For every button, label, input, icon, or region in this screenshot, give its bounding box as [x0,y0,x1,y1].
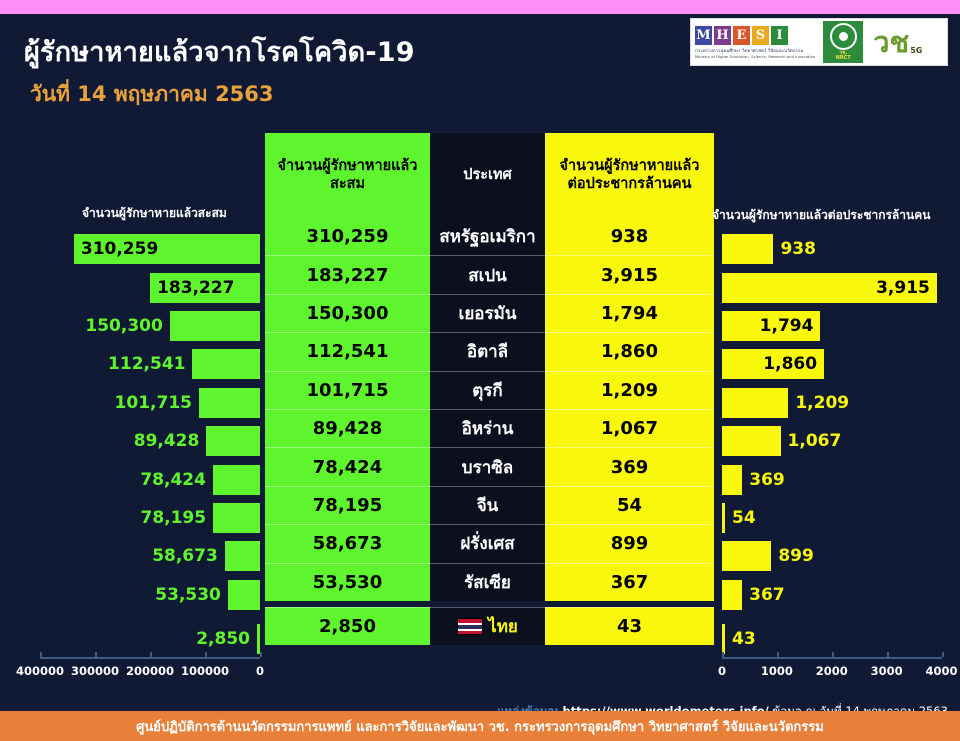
cell-country: ฝรั่งเศส [430,524,545,562]
bar-row: 54 [722,503,958,533]
axis-tick [777,652,779,657]
cell-per-million: 43 [545,607,714,645]
axis-tick [260,652,262,657]
value-recovered-total: 89,428 [313,418,382,439]
value-per-million: 369 [611,457,649,478]
bar-value-label: 112,541 [108,354,192,374]
value-country: จีน [477,492,499,519]
axis-tick [887,652,889,657]
value-recovered-total: 2,850 [319,616,376,637]
cell-country: สหรัฐอเมริกา [430,217,545,255]
value-recovered-total: 58,673 [313,533,382,554]
axis-tick-label: 400000 [16,664,64,678]
cell-country: รัสเซีย [430,563,545,601]
axis-tick-label: 0 [718,664,726,678]
value-country: ฝรั่งเศส [460,530,514,557]
bar [722,465,742,495]
value-recovered-total: 78,424 [313,457,382,478]
bar-row: 58,673 [20,541,260,571]
cell-per-million: 1,067 [545,409,714,447]
bar-row: 938 [722,234,958,264]
value-recovered-total: 183,227 [307,265,389,286]
bar-row: 89,428 [20,426,260,456]
table-row: 78,424บราซิล369 [265,447,714,485]
axis-tick-label: 1000 [761,664,793,678]
nrct-logo: วช. NRCT [823,21,863,63]
bar-row: 78,424 [20,465,260,495]
table-row: 310,259สหรัฐอเมริกา938 [265,217,714,255]
bar: 183,227 [150,273,260,303]
mhesi-letter-e: E [733,26,750,45]
bar: 1,860 [722,349,824,379]
bar [206,426,260,456]
bar [199,388,260,418]
bar-row: 101,715 [20,388,260,418]
cell-per-million: 54 [545,486,714,524]
bar [228,580,260,610]
value-per-million: 1,067 [601,418,658,439]
bar-row: 43 [722,624,958,654]
value-per-million: 43 [617,616,642,637]
bar-value-label: 101,715 [115,393,199,413]
bar-value-label: 183,227 [150,278,234,298]
bar-value-label: 78,195 [140,508,213,528]
cell-recovered-total: 183,227 [265,255,430,293]
axis-tick-label: 100000 [181,664,229,678]
bar-row: 367 [722,580,958,610]
mhesi-thai-name: กระทรวงการอุดมศึกษา วิทยาศาสตร์ วิจัยและ… [695,47,815,54]
value-recovered-total: 150,300 [307,303,389,324]
bar-value-label: 89,428 [134,431,207,451]
nrct-label-abbr: NRCT [836,55,851,61]
bar [722,580,742,610]
mhesi-english-name: Ministry of Higher Education, Science, R… [695,55,815,59]
cell-per-million: 1,209 [545,371,714,409]
cell-per-million: 3,915 [545,255,714,293]
axis-tick [205,652,207,657]
bar-row: 369 [722,465,958,495]
footer-banner: ศูนย์ปฏิบัติการด้านนวัตกรรมการแพทย์ และก… [0,711,960,741]
value-per-million: 899 [611,533,649,554]
table-row: 101,715ตุรกี1,209 [265,371,714,409]
cell-recovered-total: 310,259 [265,217,430,255]
table-header-row: จำนวนผู้รักษาหายแล้วสะสม ประเทศ จำนวนผู้… [265,133,714,217]
value-recovered-total: 310,259 [307,226,389,247]
bar-value-label: 53,530 [155,585,228,605]
mhesi-letter-m: M [695,26,712,45]
bar-value-label: 1,794 [760,316,821,336]
footer-banner-text: ศูนย์ปฏิบัติการด้านนวัตกรรมการแพทย์ และก… [136,716,824,737]
bar-value-label: 78,424 [140,470,213,490]
bar [257,624,260,654]
bar [722,541,771,571]
table-row: 150,300เยอรมัน1,794 [265,294,714,332]
bar-value-label: 369 [742,470,785,490]
value-per-million: 1,794 [601,303,658,324]
bar [722,426,781,456]
axis-recovered-total-line [40,657,260,659]
value-per-million: 1,860 [601,341,658,362]
cell-recovered-total: 89,428 [265,409,430,447]
table-header: จำนวนผู้รักษาหายแล้วสะสม ประเทศ จำนวนผู้… [265,133,714,217]
table-row: 78,195จีน54 [265,486,714,524]
header-cell-country: ประเทศ [430,133,545,217]
axis-tick-label: 200000 [126,664,174,678]
bar-row: 1,794 [722,311,958,341]
value-recovered-total: 112,541 [307,341,389,362]
cell-country: อิตาลี [430,332,545,370]
bar-value-label: 938 [773,239,816,259]
value-country: อิหร่าน [462,415,514,442]
bar-value-label: 367 [742,585,785,605]
value-recovered-total: 78,195 [313,495,382,516]
mhesi-logo: M H E S I กระทรวงการอุดมศึกษา วิทยาศาสตร… [695,26,815,59]
value-country: ตุรกี [472,377,502,404]
bar-value-label: 3,915 [876,278,937,298]
cell-per-million: 1,860 [545,332,714,370]
bar-row: 2,850 [20,624,260,654]
value-country: บราซิล [462,454,513,481]
bar-row: 183,227 [20,273,260,303]
header-cell-recovered-total: จำนวนผู้รักษาหายแล้วสะสม [265,133,430,217]
top-accent-bar [0,0,960,14]
data-table: จำนวนผู้รักษาหายแล้วสะสม ประเทศ จำนวนผู้… [265,133,714,645]
bar-row: 1,860 [722,349,958,379]
cell-country: ตุรกี [430,371,545,409]
header-label-country: ประเทศ [457,166,518,184]
cell-country: เยอรมัน [430,294,545,332]
bar-value-label: 54 [725,508,756,528]
axis-tick [942,652,944,657]
nrct-label: วช. NRCT [836,51,851,62]
cell-recovered-total: 101,715 [265,371,430,409]
bar [213,503,260,533]
cell-per-million: 938 [545,217,714,255]
bar-row: 310,259 [20,234,260,264]
bar-row: 112,541 [20,349,260,379]
bar-value-label: 310,259 [74,239,158,259]
value-country: รัสเซีย [464,569,511,596]
bar: 310,259 [74,234,260,264]
value-per-million: 1,209 [601,380,658,401]
value-recovered-total: 53,530 [313,572,382,593]
cell-country: บราซิล [430,447,545,485]
page-subtitle-date: วันที่ 14 พฤษภาคม 2563 [30,78,274,111]
logo-strip: M H E S I กระทรวงการอุดมศึกษา วิทยาศาสตร… [690,18,948,66]
bar-row: 150,300 [20,311,260,341]
header-label-recovered-total: จำนวนผู้รักษาหายแล้วสะสม [265,157,430,193]
vch-5g-logo: วช 5G [873,28,922,57]
bar-value-label: 1,209 [788,393,849,413]
bar [213,465,260,495]
cell-recovered-total: 78,195 [265,486,430,524]
value-country: สเปน [468,262,507,289]
chart-title-per-million: จำนวนผู้รักษาหายแล้วต่อประชากรล้านคน [712,206,930,225]
table-row: 89,428อิหร่าน1,067 [265,409,714,447]
bar [192,349,260,379]
bar-row: 53,530 [20,580,260,610]
table-row: 2,850ไทย43 [265,607,714,645]
bar-row: 899 [722,541,958,571]
bar-value-label: 150,300 [85,316,169,336]
bar-value-label: 43 [725,629,756,649]
chart-title-recovered-total: จำนวนผู้รักษาหายแล้วสะสม [82,204,227,223]
bar-row: 3,915 [722,273,958,303]
header-label-per-million: จำนวนผู้รักษาหายแล้วต่อประชากรล้านคน [545,157,714,193]
axis-tick-label: 0 [256,664,264,678]
cell-per-million: 1,794 [545,294,714,332]
axis-tick [832,652,834,657]
value-country: อิตาลี [467,338,508,365]
cell-country: จีน [430,486,545,524]
value-country: เยอรมัน [459,300,517,327]
cell-recovered-total: 53,530 [265,563,430,601]
mhesi-letter-s: S [752,26,769,45]
cell-recovered-total: 58,673 [265,524,430,562]
cell-country: อิหร่าน [430,409,545,447]
cell-per-million: 899 [545,524,714,562]
cell-per-million: 369 [545,447,714,485]
table-row: 183,227สเปน3,915 [265,255,714,293]
axis-tick-label: 300000 [71,664,119,678]
axis-tick [150,652,152,657]
vch-5g-label: 5G [910,46,922,55]
cell-recovered-total: 150,300 [265,294,430,332]
bar-value-label: 58,673 [152,546,225,566]
thailand-flag-icon [457,618,483,635]
cell-per-million: 367 [545,563,714,601]
axis-tick [40,652,42,657]
bar-row: 78,195 [20,503,260,533]
axis-tick [95,652,97,657]
table-row: 58,673ฝรั่งเศส899 [265,524,714,562]
table-row: 53,530รัสเซีย367 [265,563,714,601]
bar-value-label: 1,860 [763,354,824,374]
value-per-million: 3,915 [601,265,658,286]
value-per-million: 54 [617,495,642,516]
table-row: 112,541อิตาลี1,860 [265,332,714,370]
cell-country: สเปน [430,255,545,293]
bar-value-label: 2,850 [196,629,257,649]
vch-wordmark: วช [873,28,909,57]
axis-tick-label: 4000 [926,664,958,678]
cell-recovered-total: 112,541 [265,332,430,370]
mhesi-letter-i: I [771,26,788,45]
axis-tick [722,652,724,657]
bar-value-label: 899 [771,546,814,566]
value-recovered-total: 101,715 [307,380,389,401]
bar [170,311,260,341]
value-per-million: 938 [611,226,649,247]
cell-recovered-total: 78,424 [265,447,430,485]
bar [225,541,260,571]
bar [722,388,788,418]
axis-tick-label: 3000 [871,664,903,678]
value-country: ไทย [457,613,518,640]
infographic-stage: ผู้รักษาหายแล้วจากโรคโควิด-19 วันที่ 14 … [0,14,960,711]
mhesi-letter-h: H [714,26,731,45]
bar: 3,915 [722,273,937,303]
axis-per-million-line [722,657,942,659]
bar-row: 1,067 [722,426,958,456]
header-cell-per-million: จำนวนผู้รักษาหายแล้วต่อประชากรล้านคน [545,133,714,217]
bar-row: 1,209 [722,388,958,418]
axis-tick-label: 2000 [816,664,848,678]
bar-value-label: 1,067 [781,431,842,451]
bar: 1,794 [722,311,820,341]
value-country: สหรัฐอเมริกา [439,223,535,250]
mhesi-letters: M H E S I [695,26,815,45]
page-title: ผู้รักษาหายแล้วจากโรคโควิด-19 [24,30,415,73]
value-per-million: 367 [611,572,649,593]
dharma-wheel-icon [830,23,857,50]
table-body: 310,259สหรัฐอเมริกา938183,227สเปน3,91515… [265,217,714,645]
country-name-thailand: ไทย [488,613,518,640]
cell-country: ไทย [430,607,545,645]
cell-recovered-total: 2,850 [265,607,430,645]
bar [722,234,773,264]
